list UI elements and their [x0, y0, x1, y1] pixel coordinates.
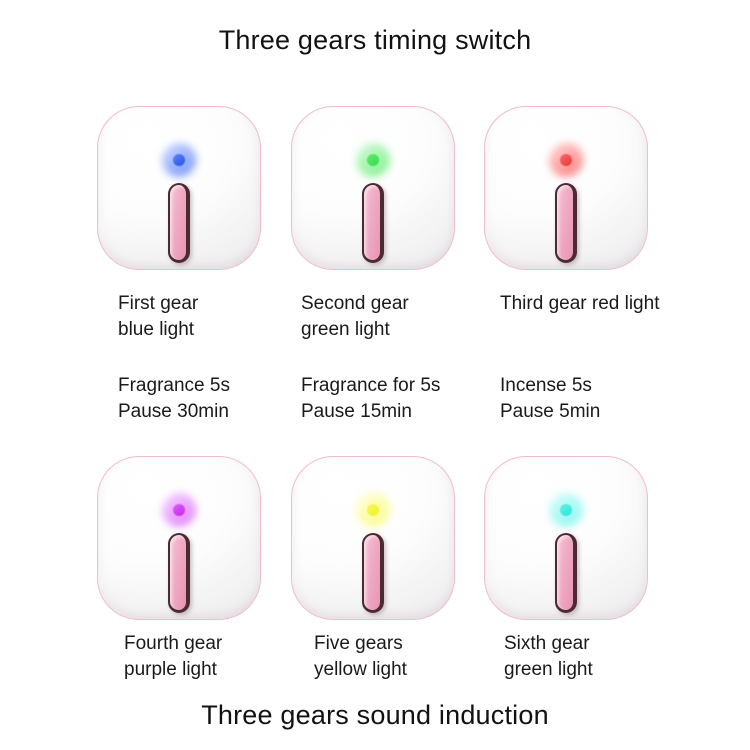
fragrance-slot	[362, 183, 384, 263]
timing-first-gear: Fragrance 5s Pause 30min	[118, 373, 230, 425]
device-fifth-gear	[291, 456, 455, 620]
led-indicator-green	[356, 143, 390, 177]
led-indicator-cyan	[549, 493, 583, 527]
device-fourth-gear	[97, 456, 261, 620]
caption-second-gear: Second gear green light	[301, 291, 409, 343]
device-body	[97, 456, 261, 620]
led-indicator-red	[549, 143, 583, 177]
page-title-top: Three gears timing switch	[0, 25, 750, 56]
device-body	[484, 456, 648, 620]
caption-first-gear: First gear blue light	[118, 291, 198, 343]
caption-fifth-gear: Five gears yellow light	[314, 631, 407, 683]
device-body	[291, 106, 455, 270]
fragrance-slot	[168, 533, 190, 613]
caption-sixth-gear: Sixth gear green light	[504, 631, 593, 683]
led-core-icon	[367, 154, 379, 166]
device-body	[97, 106, 261, 270]
led-indicator-purple	[162, 493, 196, 527]
device-second-gear	[291, 106, 455, 270]
caption-fourth-gear: Fourth gear purple light	[124, 631, 222, 683]
led-core-icon	[367, 504, 379, 516]
device-body	[291, 456, 455, 620]
fragrance-slot	[555, 183, 577, 263]
page-title-bottom: Three gears sound induction	[0, 700, 750, 731]
led-core-icon	[560, 154, 572, 166]
device-body	[484, 106, 648, 270]
led-core-icon	[560, 504, 572, 516]
device-third-gear	[484, 106, 648, 270]
product-infographic: Three gears timing switch	[0, 0, 750, 750]
fragrance-slot	[362, 533, 384, 613]
led-indicator-blue	[162, 143, 196, 177]
caption-third-gear: Third gear red light	[500, 291, 659, 317]
led-indicator-yellow	[356, 493, 390, 527]
fragrance-slot	[555, 533, 577, 613]
device-first-gear	[97, 106, 261, 270]
device-sixth-gear	[484, 456, 648, 620]
led-core-icon	[173, 154, 185, 166]
fragrance-slot	[168, 183, 190, 263]
timing-third-gear: Incense 5s Pause 5min	[500, 373, 600, 425]
timing-second-gear: Fragrance for 5s Pause 15min	[301, 373, 440, 425]
led-core-icon	[173, 504, 185, 516]
